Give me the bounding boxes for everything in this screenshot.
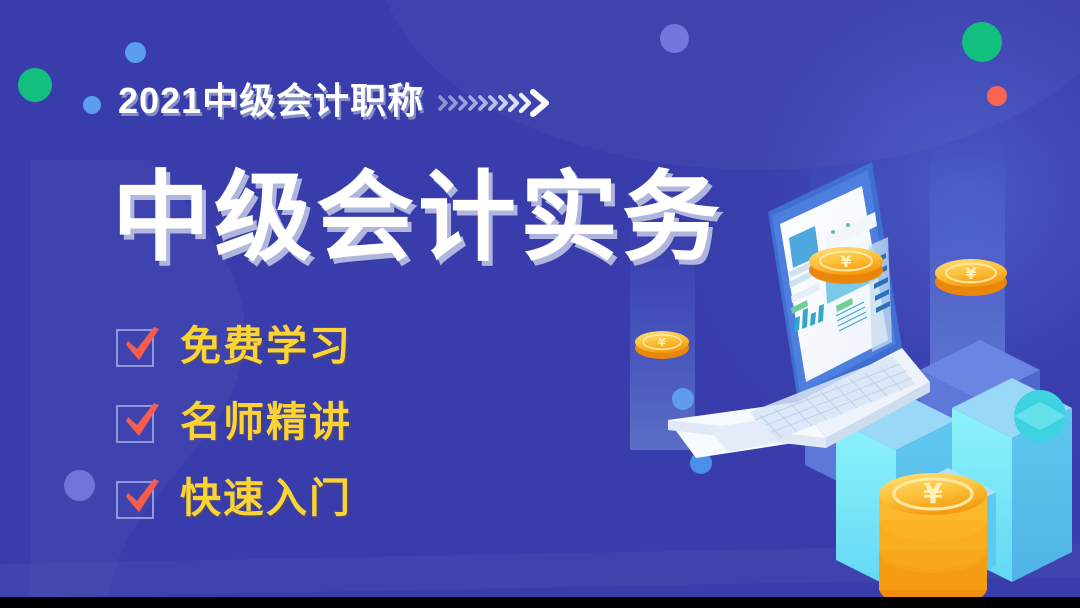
checkmark-icon	[116, 325, 158, 367]
list-item: 免费学习	[116, 322, 352, 370]
subtitle-text: 2021中级会计职称	[118, 83, 424, 119]
bottom-black-bar	[0, 597, 1080, 608]
page-title: 中级会计实务	[112, 163, 724, 273]
dot-blue-lower	[83, 96, 101, 114]
checkmark-icon	[116, 477, 158, 519]
svg-text:¥: ¥	[965, 264, 976, 283]
feature-label: 快速入门	[180, 478, 352, 519]
promo-poster: ¥ ¥ ¥	[0, 0, 1080, 608]
dot-green-right	[962, 22, 1002, 62]
chevron-arrows-icon	[438, 88, 556, 118]
dot-red-right	[987, 86, 1007, 106]
list-item: 快速入门	[116, 474, 352, 522]
gold-coin-stack: ¥	[879, 473, 987, 608]
svg-text:¥: ¥	[840, 252, 851, 271]
dot-purple-bottom	[64, 470, 95, 501]
subtitle-row: 2021中级会计职称	[118, 83, 556, 119]
feature-label: 免费学习	[180, 326, 352, 367]
feature-list: 免费学习 名师精讲 快速入门	[116, 322, 352, 522]
checkmark-icon	[116, 401, 158, 443]
svg-text:¥: ¥	[923, 477, 943, 510]
dot-purple-top	[660, 24, 689, 53]
floating-coin-medium: ¥	[809, 247, 883, 284]
dot-green-left	[18, 68, 52, 102]
floating-coin-small: ¥	[635, 331, 689, 359]
dot-blue-upper	[125, 42, 146, 63]
svg-text:¥: ¥	[658, 336, 666, 349]
floating-coin-large: ¥	[935, 259, 1007, 296]
feature-label: 名师精讲	[180, 402, 352, 443]
list-item: 名师精讲	[116, 398, 352, 446]
